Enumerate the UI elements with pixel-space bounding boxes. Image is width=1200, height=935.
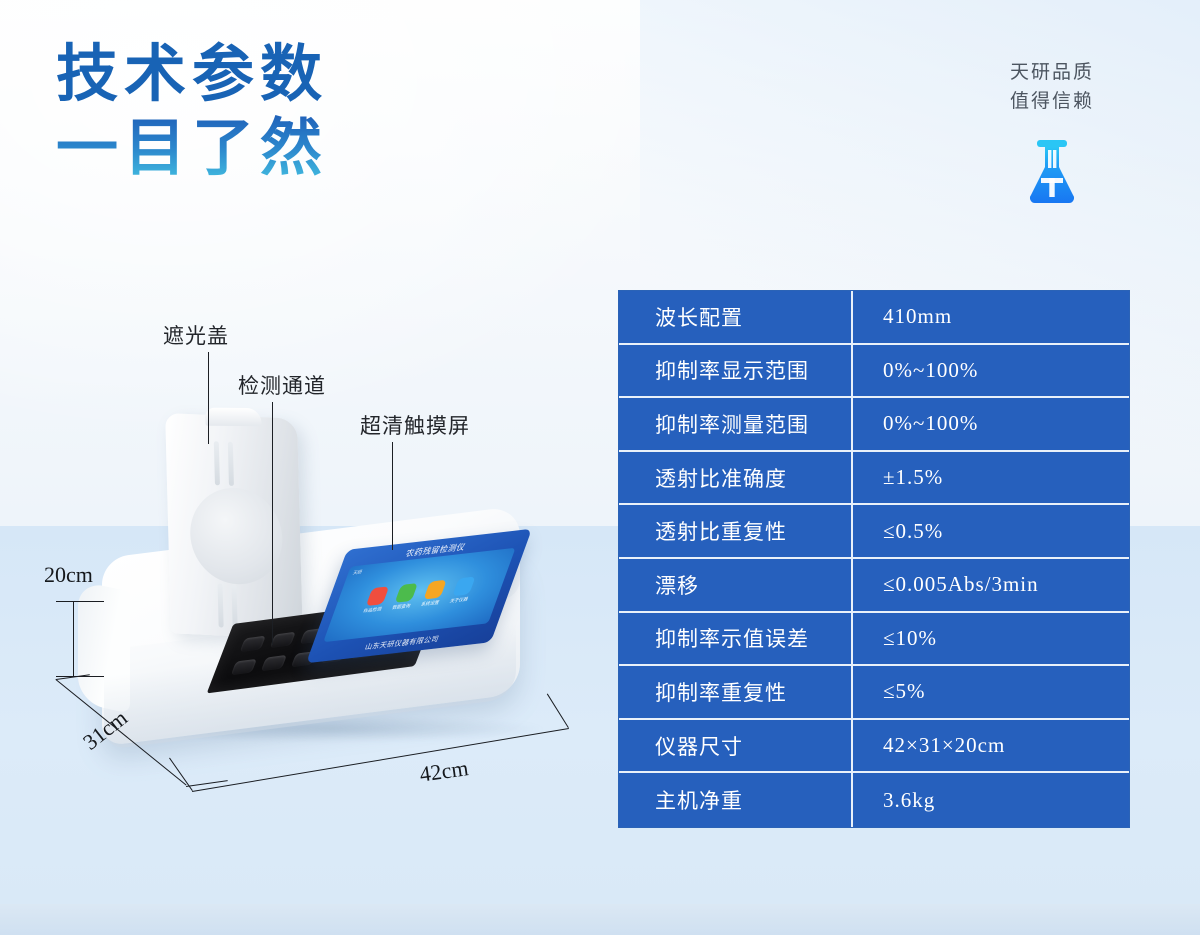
page-title: 技术参数 一目了然 bbox=[56, 38, 476, 186]
light-shield-cover bbox=[165, 413, 303, 639]
app-icon-data-query[interactable] bbox=[394, 583, 417, 603]
page-title-line-2: 一目了然 bbox=[56, 112, 476, 186]
spec-label: 抑制率测量范围 bbox=[619, 398, 851, 450]
table-row: 透射比重复性 ≤0.5% bbox=[619, 505, 1129, 559]
flask-icon bbox=[1023, 138, 1081, 206]
dimension-label-height: 20cm bbox=[44, 562, 93, 588]
app-label: 系统设置 bbox=[420, 600, 440, 608]
app-label: 样品检测 bbox=[362, 606, 382, 614]
spec-value: 0%~100% bbox=[853, 398, 1129, 450]
table-row: 抑制率显示范围 0%~100% bbox=[619, 345, 1129, 399]
spec-value: ≤0.005Abs/3min bbox=[853, 559, 1129, 611]
spec-label: 透射比重复性 bbox=[619, 505, 851, 557]
callout-leader-detection-channel bbox=[272, 402, 273, 645]
lid-rib bbox=[214, 441, 220, 485]
screen-app-item[interactable]: 关于仪器 bbox=[449, 576, 476, 604]
sample-well bbox=[231, 659, 257, 675]
spec-table: 波长配置 410mm 抑制率显示范围 0%~100% 抑制率测量范围 0%~10… bbox=[618, 290, 1130, 828]
spec-label: 漂移 bbox=[619, 559, 851, 611]
sample-well bbox=[261, 655, 287, 671]
spec-label: 仪器尺寸 bbox=[619, 720, 851, 772]
screen-app-row[interactable]: 样品检测 数据查询 系统设置 关于仪器 bbox=[332, 573, 506, 618]
table-row: 抑制率测量范围 0%~100% bbox=[619, 398, 1129, 452]
screen-app-item[interactable]: 系统设置 bbox=[420, 580, 447, 608]
dimension-tick-top bbox=[56, 601, 104, 602]
callout-leader-touchscreen bbox=[392, 442, 393, 550]
table-row: 漂移 ≤0.005Abs/3min bbox=[619, 559, 1129, 613]
app-icon-settings[interactable] bbox=[423, 580, 446, 600]
table-row: 透射比准确度 ±1.5% bbox=[619, 452, 1129, 506]
screen-app-item[interactable]: 样品检测 bbox=[362, 586, 389, 614]
lid-notch bbox=[205, 408, 262, 427]
spec-value: 0%~100% bbox=[853, 345, 1129, 397]
table-row: 抑制率重复性 ≤5% bbox=[619, 666, 1129, 720]
callout-label-detection-channel: 检测通道 bbox=[238, 370, 326, 400]
spec-value: 42×31×20cm bbox=[853, 720, 1129, 772]
spec-value: ≤0.5% bbox=[853, 505, 1129, 557]
page-root: 技术参数 一目了然 天研品质 值得信赖 bbox=[0, 0, 1200, 935]
app-label: 关于仪器 bbox=[449, 596, 469, 604]
dimension-line-height bbox=[73, 601, 74, 677]
brand-block: 天研品质 值得信赖 bbox=[962, 58, 1142, 206]
spec-value: ≤10% bbox=[853, 613, 1129, 665]
table-row: 仪器尺寸 42×31×20cm bbox=[619, 720, 1129, 774]
page-title-line-1: 技术参数 bbox=[56, 38, 476, 112]
flask-icon-wrap bbox=[962, 138, 1142, 206]
callout-label-light-shield: 遮光盖 bbox=[163, 320, 229, 350]
sample-well bbox=[240, 636, 266, 652]
spec-label: 透射比准确度 bbox=[619, 452, 851, 504]
screen-app-item[interactable]: 数据查询 bbox=[391, 583, 418, 611]
spec-label: 主机净重 bbox=[619, 773, 851, 827]
brand-slogan-line-2: 值得信赖 bbox=[962, 87, 1142, 116]
spec-label: 抑制率示值误差 bbox=[619, 613, 851, 665]
spec-value: 3.6kg bbox=[853, 773, 1129, 827]
lid-circle bbox=[189, 486, 283, 586]
table-row: 抑制率示值误差 ≤10% bbox=[619, 613, 1129, 667]
table-row: 主机净重 3.6kg bbox=[619, 773, 1129, 827]
lid-rib bbox=[218, 583, 224, 627]
table-row: 波长配置 410mm bbox=[619, 291, 1129, 345]
background-base-strip bbox=[0, 904, 1200, 935]
callout-leader-light-shield bbox=[208, 352, 209, 444]
app-icon-sample-test[interactable] bbox=[365, 586, 388, 606]
screen-badge: 天研 bbox=[352, 569, 363, 576]
callout-label-touchscreen: 超清触摸屏 bbox=[360, 410, 470, 440]
spec-label: 波长配置 bbox=[619, 291, 851, 343]
product-illustration: 农药残留检测仪 天研 样品检测 数据查询 系统设置 bbox=[60, 400, 580, 830]
lid-rib bbox=[228, 442, 234, 486]
lid-rib bbox=[232, 584, 238, 628]
spec-label: 抑制率重复性 bbox=[619, 666, 851, 718]
spec-value: ≤5% bbox=[853, 666, 1129, 718]
app-label: 数据查询 bbox=[391, 603, 411, 611]
brand-slogan-line-1: 天研品质 bbox=[962, 58, 1142, 87]
app-icon-about[interactable] bbox=[452, 577, 475, 597]
spec-value: 410mm bbox=[853, 291, 1129, 343]
sample-well bbox=[270, 632, 296, 648]
spec-label: 抑制率显示范围 bbox=[619, 345, 851, 397]
spec-value: ±1.5% bbox=[853, 452, 1129, 504]
